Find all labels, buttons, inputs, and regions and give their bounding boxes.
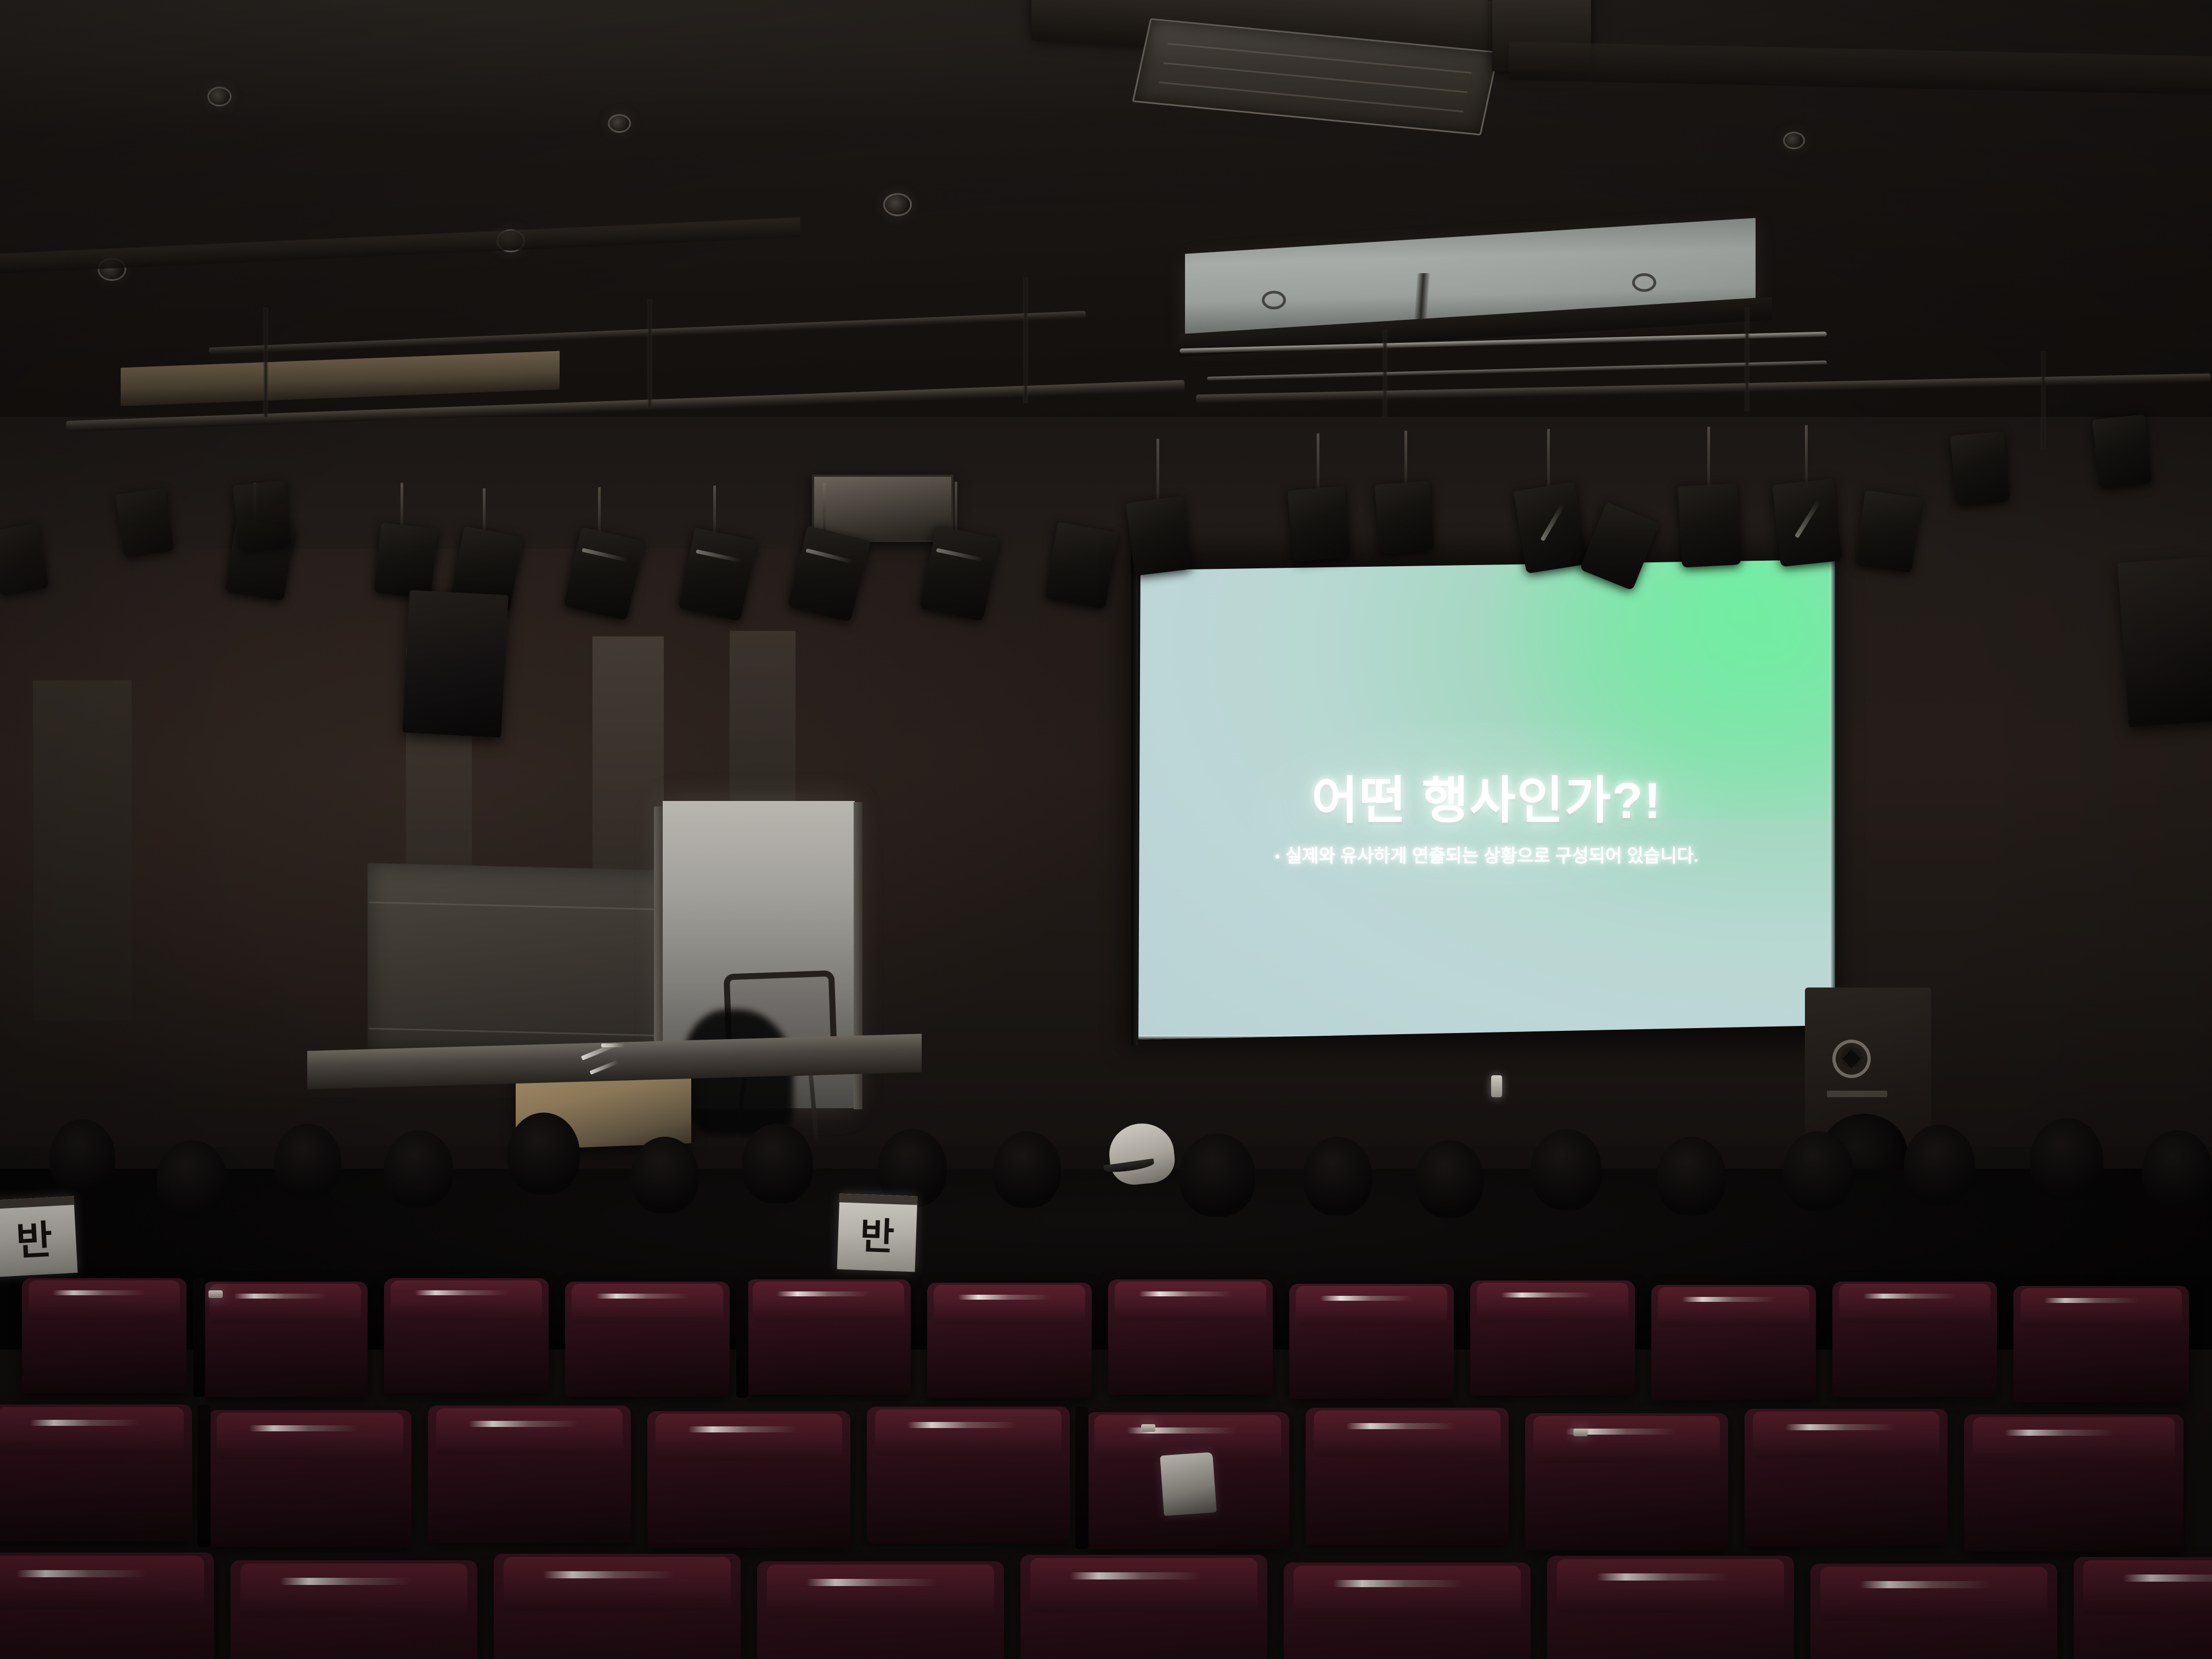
- seat-glint-r1-3: [415, 1290, 508, 1295]
- audience-head-15: [1783, 1131, 1853, 1211]
- seat-glint-r1-5: [777, 1291, 870, 1296]
- seat-r1-9: [1470, 1280, 1635, 1396]
- placard-center-text: 반: [859, 1205, 895, 1260]
- auditorium-photo: 어떤 행사인가?! •실제와 유사하게 연출되는 상황으로 구성되어 있습니다.: [0, 0, 2212, 1659]
- seat-glint-r1-9: [1501, 1293, 1594, 1297]
- seat-glint-r3-9: [2123, 1575, 2212, 1582]
- audience-head-10: [1180, 1133, 1255, 1217]
- seat-glint-r2-9: [1785, 1424, 1895, 1430]
- seat-glint-r1-7: [1139, 1291, 1232, 1296]
- seat-glint-r3-3: [543, 1571, 675, 1578]
- audience-head-16: [1904, 1125, 1975, 1206]
- seat-glint-r1-6: [958, 1295, 1051, 1300]
- audience-head-11: [1303, 1137, 1372, 1216]
- aisle-step-light-2: [1573, 1429, 1588, 1436]
- seat-r1-10: [1651, 1285, 1816, 1400]
- par-hook-5: [713, 486, 716, 536]
- seat-glint-r1-1: [53, 1290, 146, 1295]
- truss-dropper-2: [647, 299, 652, 409]
- par-hook-r3: [1404, 431, 1407, 488]
- stage-glint-3: [601, 1043, 624, 1047]
- speaker-brand-label: [1827, 1091, 1887, 1097]
- truss-dropper-5: [1745, 307, 1750, 411]
- seat-glint-r1-8: [1320, 1296, 1413, 1301]
- seat-glint-r2-4: [688, 1426, 798, 1432]
- wall-speaker-left: [402, 590, 508, 737]
- seat-r3-6: [1284, 1562, 1531, 1659]
- seat-glint-r2-10: [2005, 1430, 2114, 1436]
- audience-head-7: [742, 1124, 813, 1204]
- par-hook-r6: [1707, 427, 1710, 490]
- audience-head-3: [274, 1124, 341, 1200]
- seat-gap-3: [198, 1404, 211, 1547]
- placard-left-text: 반: [14, 1207, 54, 1266]
- wall-panel-d: [33, 680, 132, 1020]
- par-can-light-r2: [1288, 486, 1351, 562]
- seat-r1-3: [384, 1278, 549, 1393]
- par-hook-6: [823, 483, 826, 535]
- slide-title: 어떤 행사인가?!: [1138, 775, 1835, 828]
- valance-ring-left: [1262, 291, 1286, 309]
- par-can-light-r6: [1678, 483, 1741, 567]
- speaker-logo-icon: [1832, 1040, 1871, 1078]
- audience-head-14: [1657, 1137, 1726, 1216]
- seat-r1-12: [2013, 1286, 2189, 1402]
- seat-glint-r1-4: [596, 1294, 689, 1299]
- seat-r3-2: [230, 1560, 477, 1659]
- screen-right-edge: [1830, 560, 1835, 1040]
- wall-panel-board: [368, 863, 675, 1057]
- seat-glint-r2-1: [30, 1420, 139, 1426]
- seat-glint-r3-4: [806, 1579, 938, 1586]
- truss-dropper-1: [263, 307, 268, 417]
- slide-subtitle-text: 실제와 유사하게 연출되는 상황으로 구성되어 있습니다.: [1285, 845, 1699, 866]
- downlight-4: [207, 87, 232, 106]
- audience-head-12: [1415, 1140, 1483, 1218]
- seat-gap-1: [193, 1278, 205, 1397]
- downlight-3: [883, 193, 912, 216]
- audience-head-6: [631, 1137, 699, 1214]
- audience-head-1: [49, 1119, 115, 1195]
- valance-ring-right: [1632, 273, 1656, 292]
- seat-glint-r1-2: [234, 1294, 327, 1299]
- par-hook-r4: [1547, 429, 1550, 490]
- seat-glint-r2-3: [469, 1421, 578, 1427]
- audience-head-17: [2030, 1118, 2103, 1201]
- seat-glint-r1-11: [1863, 1294, 1956, 1299]
- audience-head-5: [507, 1113, 580, 1195]
- par-hook-r7: [1805, 425, 1808, 484]
- seat-r3-9: [2074, 1557, 2212, 1659]
- seat-r1-11: [1832, 1282, 1997, 1397]
- truss-dropper-3: [1023, 277, 1028, 403]
- bullet-glyph: •: [1275, 848, 1280, 865]
- audience-head-13: [1531, 1129, 1602, 1210]
- seat-r3-4: [757, 1561, 1004, 1659]
- par-hook-4: [598, 487, 601, 537]
- seat-glint-r2-2: [249, 1425, 359, 1431]
- par-hook-7: [955, 482, 957, 534]
- screen-status-indicator: [1491, 1075, 1502, 1097]
- audience-head-18: [2142, 1130, 2212, 1210]
- seat-r3-5: [1020, 1555, 1267, 1659]
- seat-r3-7: [1547, 1556, 1794, 1659]
- projection-screen[interactable]: 어떤 행사인가?! •실제와 유사하게 연출되는 상황으로 구성되어 있습니다.: [1138, 560, 1835, 1040]
- aisle-step-light-3: [208, 1290, 223, 1298]
- seat-r1-5: [746, 1279, 911, 1395]
- par-can-light-r3: [1375, 481, 1435, 554]
- seat-r1-7: [1108, 1279, 1273, 1395]
- aisle-step-light-1: [1141, 1424, 1155, 1432]
- placard-left: 반: [0, 1196, 78, 1277]
- seat-gap-2: [736, 1279, 748, 1398]
- wall-speaker-high-right: [2118, 556, 2212, 727]
- truss-dropper-6: [2041, 351, 2046, 450]
- audience-head-9: [993, 1131, 1061, 1208]
- seat-r1-1: [22, 1278, 187, 1393]
- seat-glint-r3-8: [1860, 1581, 1991, 1588]
- placard-center: 반: [837, 1194, 918, 1272]
- seat-r1-6: [927, 1283, 1092, 1398]
- seat-r1-2: [203, 1282, 368, 1397]
- seat-r3-1: [0, 1553, 214, 1659]
- slide-subtitle: •실제와 유사하게 연출되는 상황으로 구성되어 있습니다.: [1138, 845, 1835, 867]
- seat-r1-8: [1289, 1284, 1454, 1399]
- seat-glint-r3-6: [1333, 1580, 1465, 1587]
- par-hook-r1: [1156, 439, 1159, 505]
- downlight-5: [608, 114, 631, 133]
- downlight-6: [1783, 132, 1805, 149]
- truss-dropper-4: [1383, 329, 1387, 417]
- seat-glint-r3-2: [280, 1578, 411, 1585]
- seat-r3-3: [494, 1554, 741, 1659]
- seat-glint-r2-7: [1346, 1423, 1456, 1429]
- seat-glint-r3-1: [16, 1570, 148, 1577]
- seat-glint-r3-7: [1596, 1573, 1728, 1581]
- par-hook-r2: [1317, 433, 1319, 494]
- white-item-on-seat: [1160, 1452, 1216, 1516]
- audience-head-2: [157, 1140, 227, 1218]
- par-can-light-2: [374, 523, 438, 599]
- par-can-light-r9: [1950, 431, 2010, 506]
- par-can-light-r10: [2092, 414, 2152, 488]
- audience-head-4: [384, 1130, 453, 1208]
- seat-r1-4: [565, 1282, 730, 1397]
- par-can-light-r1: [1126, 496, 1192, 576]
- par-can-light-far-left: [233, 480, 292, 551]
- seat-r3-8: [1810, 1564, 2057, 1659]
- par-hook-3: [483, 488, 486, 535]
- seat-glint-r1-10: [1682, 1297, 1775, 1302]
- par-hook-2: [400, 483, 403, 529]
- screen-left-frame: [1131, 551, 1138, 1045]
- par-can-light-r8: [1855, 490, 1922, 573]
- par-can-light-far-left-2: [115, 488, 174, 558]
- seat-gap-4: [1075, 1407, 1088, 1549]
- seat-glint-r1-12: [2044, 1298, 2138, 1303]
- seat-glint-r2-5: [907, 1422, 1017, 1428]
- seat-glint-r3-5: [1070, 1572, 1201, 1579]
